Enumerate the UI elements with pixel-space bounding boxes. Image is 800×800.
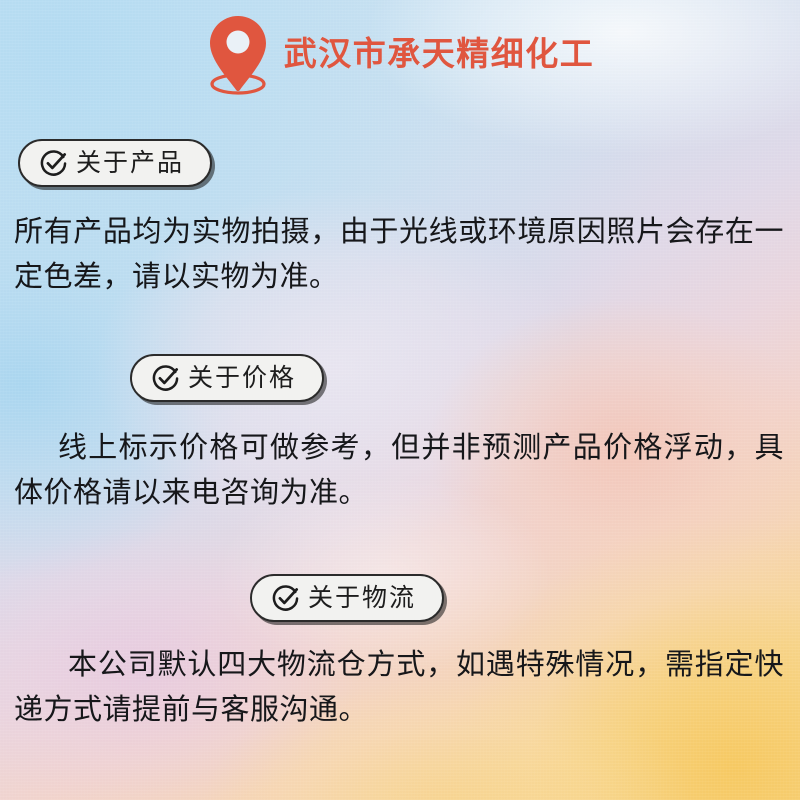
check-circle-icon <box>272 585 299 612</box>
promo-info-card: 武汉市承天精细化工 关于产品 所有产品均为实物拍摄，由于光线或环境原因照片会存在… <box>0 0 800 800</box>
section-badge-label: 关于产品 <box>76 151 184 176</box>
brand-title: 武汉市承天精细化工 <box>284 37 595 74</box>
location-pin-icon <box>206 14 270 96</box>
section-body-about-price: 线上标示价格可做参考，但并非预测产品价格浮动，具体价格请以来电咨询为准。 <box>14 426 784 516</box>
section-badge-about-price[interactable]: 关于价格 <box>130 354 324 402</box>
section-body-about-product: 所有产品均为实物拍摄，由于光线或环境原因照片会存在一定色差，请以实物为准。 <box>14 210 784 300</box>
brand-header: 武汉市承天精细化工 <box>0 14 800 96</box>
section-badge-about-product[interactable]: 关于产品 <box>18 139 212 187</box>
check-circle-icon <box>40 150 67 177</box>
section-badge-label: 关于物流 <box>308 586 416 611</box>
section-badge-label: 关于价格 <box>188 366 296 391</box>
content-container: 武汉市承天精细化工 关于产品 所有产品均为实物拍摄，由于光线或环境原因照片会存在… <box>0 0 800 800</box>
section-body-about-logistics: 本公司默认四大物流仓方式，如遇特殊情况，需指定快递方式请提前与客服沟通。 <box>14 643 784 733</box>
check-circle-icon <box>152 365 179 392</box>
section-badge-about-logistics[interactable]: 关于物流 <box>250 574 444 622</box>
